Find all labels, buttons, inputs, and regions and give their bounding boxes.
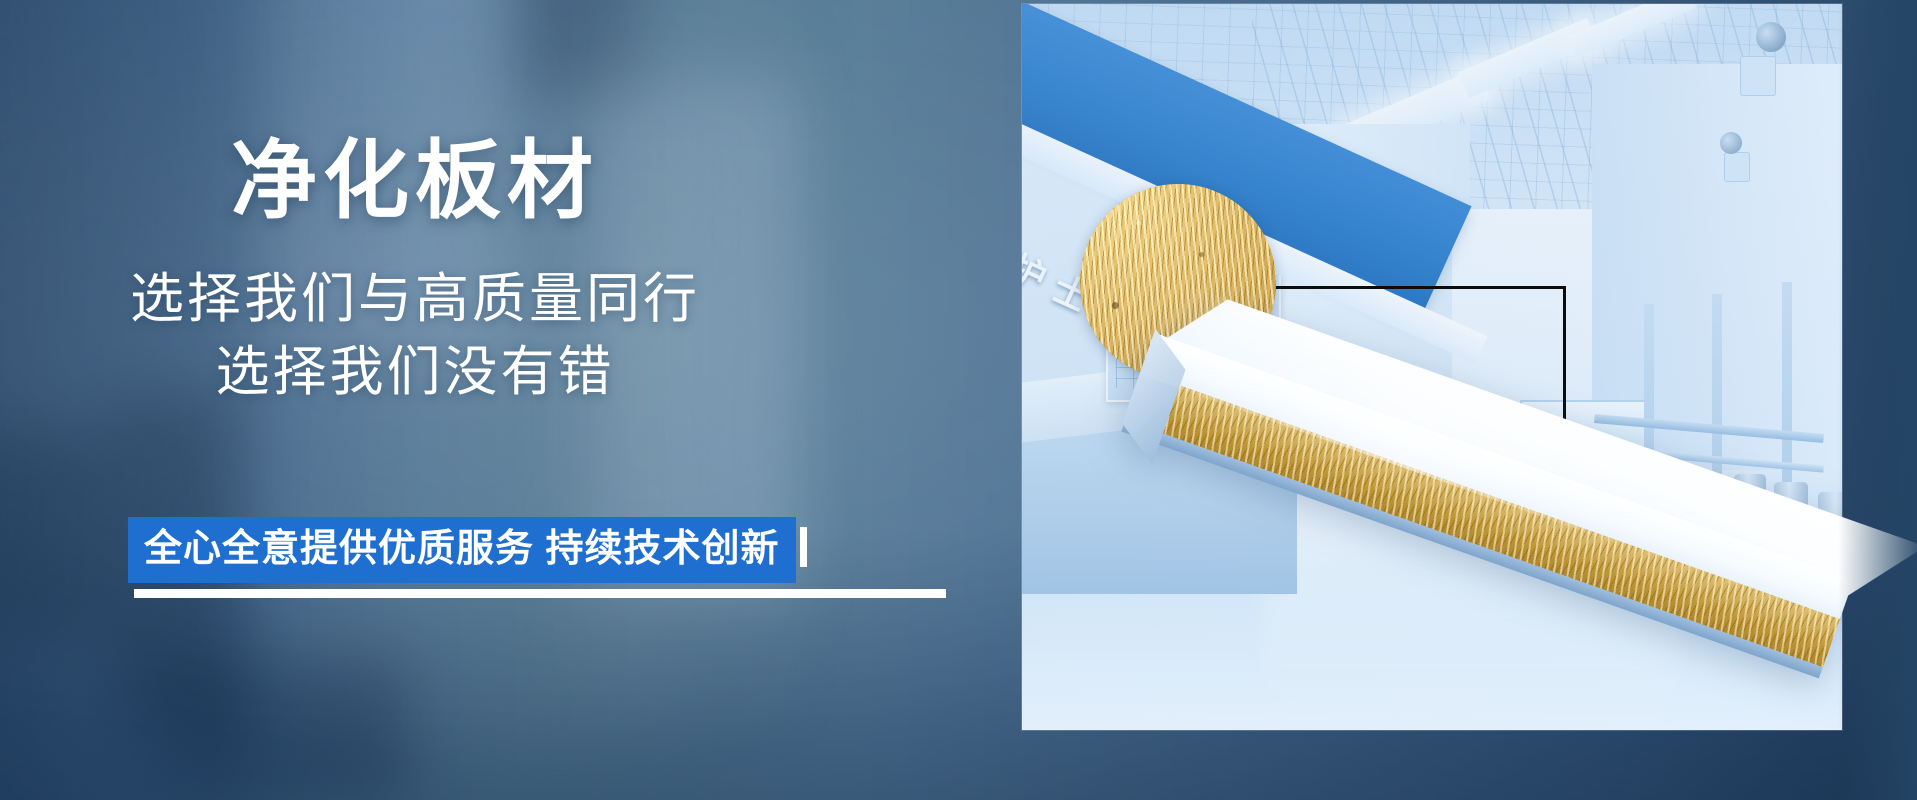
promo-banner: 净化板材 选择我们与高质量同行 选择我们没有错 全心全意提供优质服务 持续技术创…: [0, 0, 1917, 800]
tagline-block: 全心全意提供优质服务 持续技术创新: [128, 517, 946, 598]
copy-block: 净化板材 选择我们与高质量同行 选择我们没有错: [0, 135, 830, 408]
tagline-row: 全心全意提供优质服务 持续技术创新: [128, 517, 946, 583]
wall-device: [1740, 56, 1776, 96]
caret-bar-icon: [800, 527, 807, 567]
ceiling-speaker-icon: [1720, 132, 1742, 154]
subtitle-line-1: 选择我们与高质量同行: [0, 264, 830, 335]
subtitle-line-2: 选择我们没有错: [0, 337, 830, 408]
ceiling-speaker-icon: [1756, 22, 1786, 52]
tagline-banner: 全心全意提供优质服务 持续技术创新: [128, 517, 796, 583]
page-title: 净化板材: [0, 135, 830, 228]
wall-device: [1724, 152, 1750, 182]
photo-right-edge-fade: [1838, 0, 1917, 800]
tagline-underline: [134, 589, 946, 598]
